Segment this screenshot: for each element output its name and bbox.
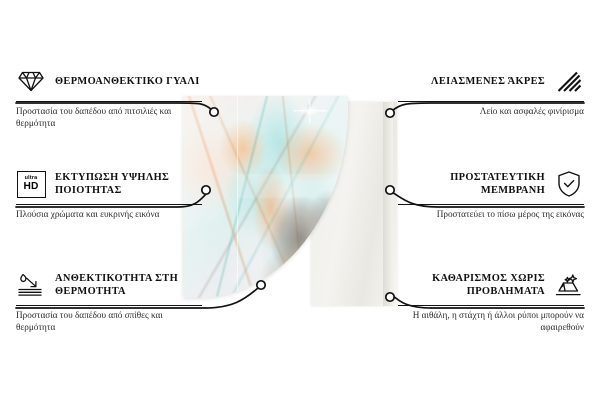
feature-subtitle: Προστασία του δαπέδου από σπίθες και θερ… (16, 310, 202, 333)
feature-subtitle: Πλούσια χρώματα και ευκρινής εικόνα (16, 209, 202, 221)
feature-title: ΕΚΤΥΠΩΣΗ ΥΨΗΛΗΣ ΠΟΙΟΤΗΤΑΣ (55, 171, 202, 197)
feature-protective-membrane: ΠΡΟΣΤΑΤΕΥΤΙΚΗ ΜΕΜΒΡΑΝΗ Προστατεύει το πί… (398, 165, 584, 221)
shield-check-icon (554, 169, 584, 199)
feature-title: ΑΝΘΕΚΤΙΚΟΤΗΤΑ ΣΤΗ ΘΕΡΜΟΤΗΤΑ (55, 272, 202, 298)
feature-rule (398, 101, 584, 102)
feature-title: ΠΡΟΣΤΑΤΕΥΤΙΚΗ ΜΕΜΒΡΑΝΗ (398, 171, 545, 197)
sponge-sparkle-icon (554, 270, 584, 300)
connector-dot-edges (386, 109, 394, 117)
feature-subtitle: Προστασία του δαπέδου από πιτσιλιές και … (16, 106, 202, 129)
connector-dot-clean (386, 293, 394, 301)
feature-rule (16, 305, 202, 306)
connector-dot-membrane (386, 186, 394, 194)
feature-rule (16, 204, 202, 205)
feature-title: ΚΑΘΑΡΙΣΜΟΣ ΧΩΡΙΣ ΠΡΟΒΛΗΜΑΤΑ (398, 272, 545, 298)
connector-dot-glass (210, 108, 218, 116)
feature-rule (398, 204, 584, 205)
feature-rule (16, 101, 202, 102)
connector-dot-heat (257, 281, 265, 289)
diamond-icon (16, 66, 46, 96)
flame-deflect-icon (16, 270, 46, 300)
feature-polished-edges: ΛΕΙΑΣΜΕΝΕΣ ΆΚΡΕΣ Λείο και ασφαλές φινίρι… (398, 62, 584, 118)
feature-subtitle: Λείο και ασφαλές φινίρισμα (398, 106, 584, 118)
feature-title: ΘΕΡΜΟΑΝΘΕΚΤΙΚΟ ΓΥΑΛΙ (55, 75, 200, 88)
feature-heat-resistant-glass: ΘΕΡΜΟΑΝΘΕΚΤΙΚΟ ΓΥΑΛΙ Προστασία του δαπέδ… (16, 62, 202, 130)
feature-heat-durability: ΑΝΘΕΚΤΙΚΟΤΗΤΑ ΣΤΗ ΘΕΡΜΟΤΗΤΑ Προστασία το… (16, 266, 202, 334)
ultra-hd-icon: ultra HD (16, 169, 46, 199)
hatched-edge-icon (554, 66, 584, 96)
feature-title: ΛΕΙΑΣΜΕΝΕΣ ΆΚΡΕΣ (431, 75, 545, 88)
connector-dot-print (202, 186, 210, 194)
feature-subtitle: Προστατεύει το πίσω μέρος της εικόνας (398, 209, 584, 221)
feature-high-quality-print: ultra HD ΕΚΤΥΠΩΣΗ ΥΨΗΛΗΣ ΠΟΙΟΤΗΤΑΣ Πλούσ… (16, 165, 202, 221)
feature-subtitle: Η αιθάλη, η στάχτη ή άλλοι ρύποι μπορούν… (398, 310, 584, 333)
feature-easy-cleaning: ΚΑΘΑΡΙΣΜΟΣ ΧΩΡΙΣ ΠΡΟΒΛΗΜΑΤΑ Η αιθάλη, η … (398, 266, 584, 334)
infographic-stage: ΘΕΡΜΟΑΝΘΕΚΤΙΚΟ ΓΥΑΛΙ Προστασία του δαπέδ… (0, 0, 600, 400)
feature-rule (398, 305, 584, 306)
